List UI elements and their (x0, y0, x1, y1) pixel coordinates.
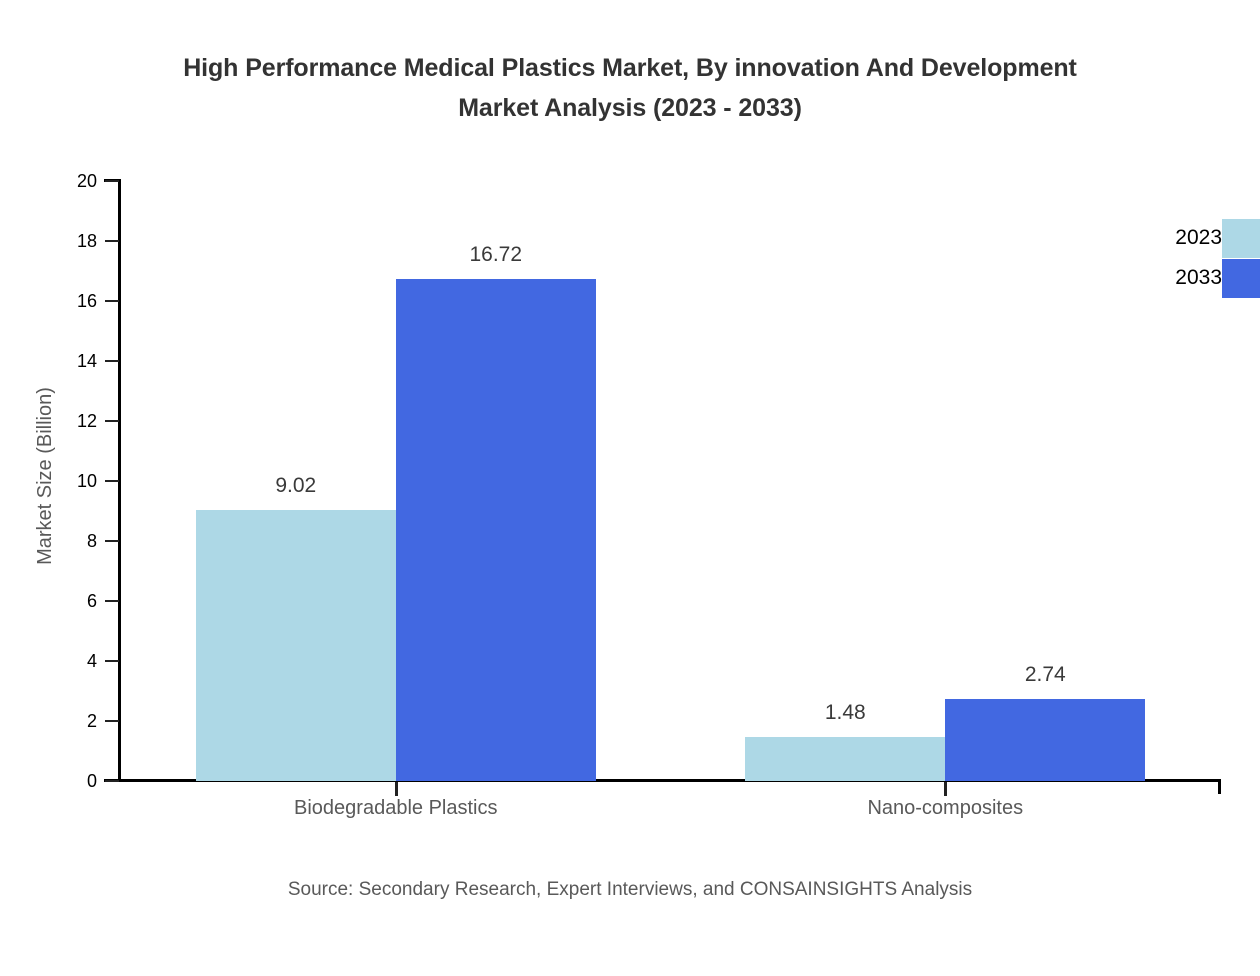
y-axis-tick (105, 360, 119, 362)
legend-item-2033[interactable]: 2033 (1130, 259, 1260, 298)
source-note: Source: Secondary Research, Expert Inter… (0, 878, 1260, 902)
chart-title-line-2: Market Analysis (2023 - 2033) (0, 88, 1260, 128)
bar-2033-1[interactable] (945, 699, 1145, 781)
y-axis-tick (105, 660, 119, 662)
bar-2023-1[interactable] (745, 737, 945, 781)
y-axis-tick (105, 240, 119, 242)
y-axis-title: Market Size (Billion) (34, 0, 56, 976)
bar-chart-figure: High Performance Medical Plastics Market… (0, 0, 1260, 920)
legend[interactable]: 2023 2033 (1130, 219, 1260, 301)
y-axis-tick (105, 600, 119, 602)
y-axis-tick-label: 8 (87, 532, 97, 550)
legend-label-2033: 2033 (1175, 267, 1222, 289)
y-axis-tick (105, 420, 119, 422)
y-axis-tick-label: 16 (77, 292, 97, 310)
y-axis-tick (105, 540, 119, 542)
y-axis-tick-label: 20 (77, 172, 97, 190)
y-axis-tick (105, 720, 119, 722)
y-axis-tick-label: 18 (77, 232, 97, 250)
bar-2033-0[interactable] (396, 279, 596, 781)
y-axis-tick-label: 10 (77, 472, 97, 490)
bar-value-label: 16.72 (376, 244, 616, 265)
y-axis-tick (105, 180, 119, 182)
x-axis-category-label: Biodegradable Plastics (146, 795, 646, 821)
x-axis-end-cap (1218, 779, 1221, 794)
x-axis-category-label: Nano-composites (695, 795, 1195, 821)
y-axis-tick (105, 780, 119, 782)
legend-item-2023[interactable]: 2023 (1130, 219, 1260, 258)
y-axis-tick-label: 2 (87, 712, 97, 730)
legend-swatch-2023 (1222, 219, 1260, 258)
bar-2023-0[interactable] (196, 510, 396, 781)
legend-swatch-2033 (1222, 259, 1260, 298)
x-axis-tick (944, 782, 947, 796)
bar-value-label: 1.48 (725, 702, 965, 723)
y-axis-tick-label: 4 (87, 652, 97, 670)
chart-title: High Performance Medical Plastics Market… (0, 48, 1260, 128)
y-axis-tick (105, 480, 119, 482)
x-axis-tick (395, 782, 398, 796)
y-axis-tick (105, 300, 119, 302)
bar-value-label: 9.02 (176, 475, 416, 496)
y-axis-tick-label: 14 (77, 352, 97, 370)
bar-value-label: 2.74 (925, 664, 1165, 685)
y-axis-tick-label: 6 (87, 592, 97, 610)
y-axis-tick-label: 12 (77, 412, 97, 430)
y-axis-tick-label: 0 (87, 772, 97, 790)
legend-label-2023: 2023 (1175, 227, 1222, 249)
chart-title-line-1: High Performance Medical Plastics Market… (0, 48, 1260, 88)
